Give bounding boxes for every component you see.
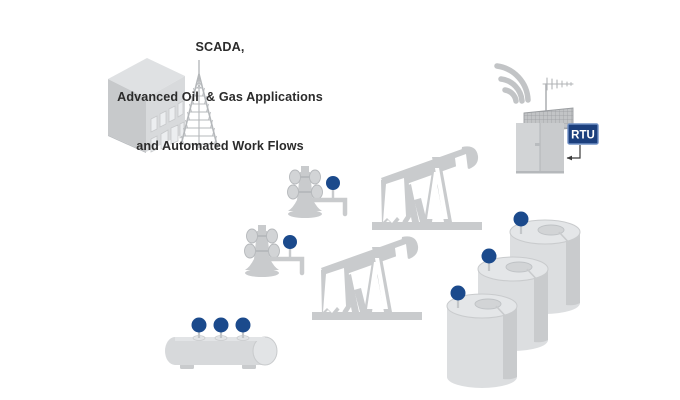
page-title: SCADA, Advanced Oil & Gas Applications a… <box>90 6 350 188</box>
pump-jack-lower <box>312 236 422 320</box>
wellhead-lower <box>245 225 303 277</box>
horizontal-bullet-tank <box>165 318 277 370</box>
bullet-tank-end-cap <box>253 337 277 365</box>
wifi-signal-waves <box>497 66 528 101</box>
rtu-badge-label: RTU <box>571 130 595 142</box>
pump-jack-upper <box>372 146 482 230</box>
storage-tank-front <box>447 286 517 389</box>
rtu-leader-line <box>567 145 580 158</box>
title-line-2: Advanced Oil & Gas Applications <box>90 89 350 106</box>
wellhead-base-lower <box>245 269 279 277</box>
rtu-callout: RTU <box>567 124 598 158</box>
title-line-1: SCADA, <box>90 39 350 56</box>
rtu-cabinet-left-door <box>516 123 540 173</box>
illustration-canvas: RTU <box>0 0 680 400</box>
rtu-cabinet-handle <box>535 143 540 146</box>
wellhead-base-upper <box>288 210 322 218</box>
bullet-tank-sensors <box>192 318 251 341</box>
bullet-tank-body <box>175 337 265 365</box>
title-line-3: and Automated Work Flows <box>90 138 350 155</box>
rtu-cabinet-base <box>516 171 564 174</box>
rtu-cabinet <box>516 123 564 174</box>
wellhead-sensor-lower <box>283 235 297 259</box>
